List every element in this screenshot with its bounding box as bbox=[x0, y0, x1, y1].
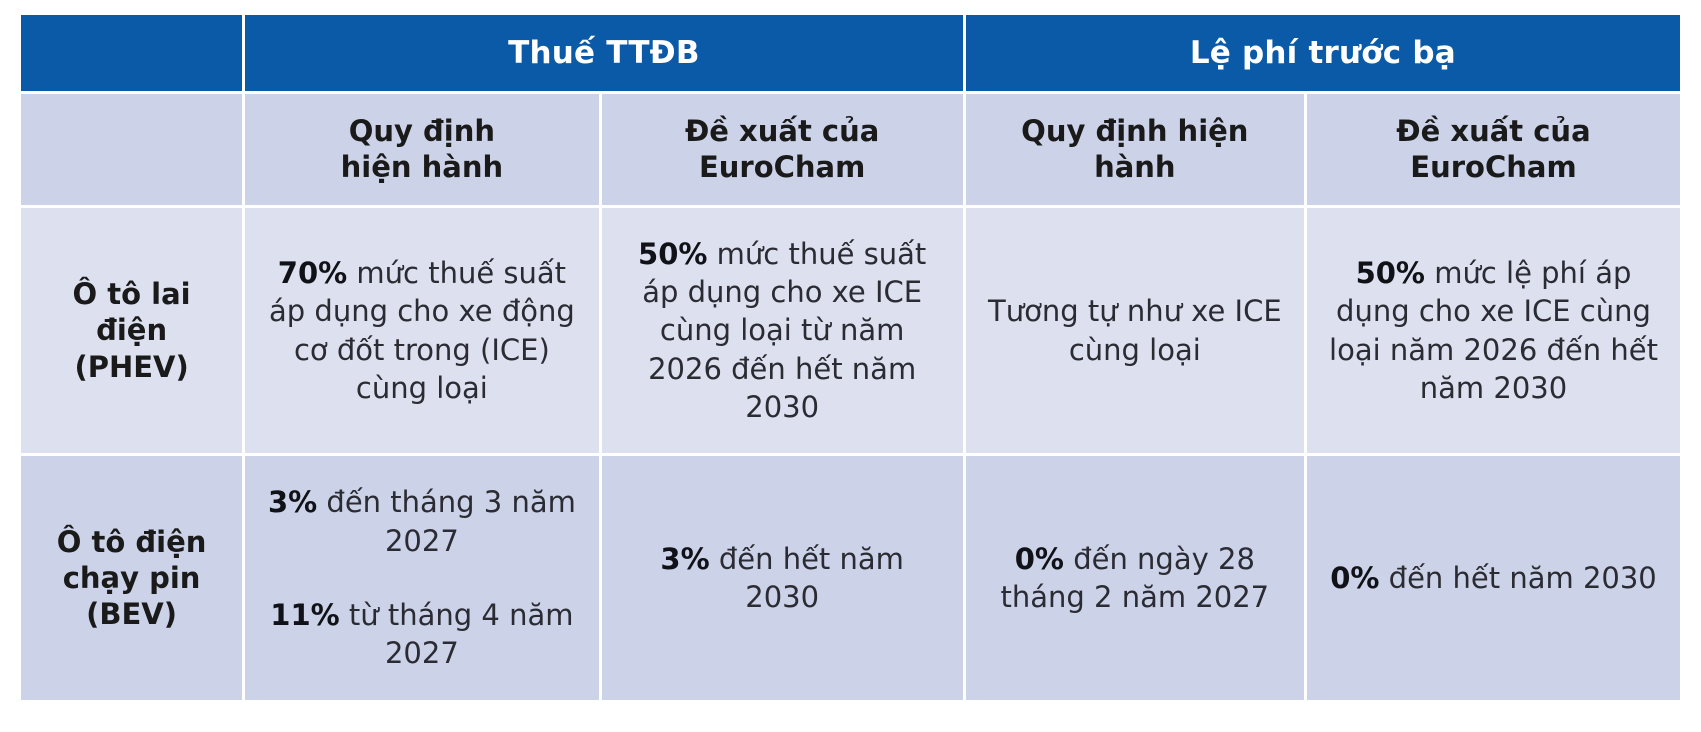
tax-comparison-table-container: Thuế TTĐB Lệ phí trước bạ Quy định hiện … bbox=[18, 12, 1683, 700]
column-header-excise-proposal-line1: Đề xuất của bbox=[685, 114, 879, 148]
column-header-excise-proposal-line2: EuroCham bbox=[699, 150, 865, 184]
cell-phev-regfee-proposal: 50% mức lệ phí áp dụng cho xe ICE cùng l… bbox=[1307, 208, 1680, 453]
tax-comparison-table: Thuế TTĐB Lệ phí trước bạ Quy định hiện … bbox=[18, 12, 1683, 703]
column-header-excise-current-line2: hiện hành bbox=[341, 150, 504, 184]
cell-phev-excise-proposal: 50% mức thuế suất áp dụng cho xe ICE cùn… bbox=[602, 208, 963, 453]
cell-bev-regfee-current: 0% đến ngày 28 tháng 2 năm 2027 bbox=[966, 456, 1304, 700]
row-label-phev: Ô tô lai điện (PHEV) bbox=[21, 208, 242, 453]
cell-bev-excise-current-value2: 11% bbox=[270, 598, 339, 632]
cell-bev-excise-proposal-text: đến hết năm 2030 bbox=[710, 542, 904, 614]
cell-bev-regfee-proposal-value: 0% bbox=[1330, 561, 1379, 595]
row-label-phev-line3: (PHEV) bbox=[74, 350, 188, 384]
column-header-excise-current: Quy định hiện hành bbox=[245, 94, 598, 205]
cell-bev-regfee-current-value: 0% bbox=[1015, 542, 1064, 576]
table-group-header-row: Thuế TTĐB Lệ phí trước bạ bbox=[21, 15, 1680, 91]
cell-bev-excise-current-value1: 3% bbox=[268, 485, 317, 519]
column-header-regfee-current: Quy định hiện hành bbox=[966, 94, 1304, 205]
cell-phev-regfee-current: Tương tự như xe ICE cùng loại bbox=[966, 208, 1304, 453]
cell-phev-excise-current-value: 70% bbox=[278, 256, 347, 290]
row-label-bev: Ô tô điện chạy pin (BEV) bbox=[21, 456, 242, 700]
cell-phev-excise-current: 70% mức thuế suất áp dụng cho xe động cơ… bbox=[245, 208, 598, 453]
table-column-header-row: Quy định hiện hành Đề xuất của EuroCham … bbox=[21, 94, 1680, 205]
table-row-phev: Ô tô lai điện (PHEV) 70% mức thuế suất á… bbox=[21, 208, 1680, 453]
row-label-bev-line3: (BEV) bbox=[86, 597, 177, 631]
cell-bev-excise-proposal-value: 3% bbox=[660, 542, 709, 576]
column-header-regfee-proposal-line2: EuroCham bbox=[1410, 150, 1576, 184]
row-label-bev-line1: Ô tô điện bbox=[57, 525, 207, 559]
column-header-regfee-current-line2: hành bbox=[1094, 150, 1176, 184]
cell-bev-excise-current-text1: đến tháng 3 năm 2027 bbox=[317, 485, 576, 557]
cell-bev-regfee-proposal-text: đến hết năm 2030 bbox=[1379, 561, 1656, 595]
row-label-phev-line1: Ô tô lai bbox=[73, 277, 191, 311]
column-header-excise-current-line1: Quy định bbox=[349, 114, 495, 148]
group-header-excise-tax: Thuế TTĐB bbox=[245, 15, 963, 91]
cell-bev-excise-proposal: 3% đến hết năm 2030 bbox=[602, 456, 963, 700]
row-label-bev-line2: chạy pin bbox=[63, 561, 201, 595]
column-header-excise-proposal: Đề xuất của EuroCham bbox=[602, 94, 963, 205]
cell-bev-excise-current-text2: từ tháng 4 năm 2027 bbox=[340, 598, 574, 670]
cell-phev-regfee-proposal-value: 50% bbox=[1356, 256, 1425, 290]
row-label-phev-line2: điện bbox=[96, 313, 167, 347]
table-row-bev: Ô tô điện chạy pin (BEV) 3% đến tháng 3 … bbox=[21, 456, 1680, 700]
group-header-corner-cell bbox=[21, 15, 242, 91]
group-header-registration-fee: Lệ phí trước bạ bbox=[966, 15, 1680, 91]
column-header-regfee-proposal-line1: Đề xuất của bbox=[1396, 114, 1590, 148]
cell-bev-regfee-proposal: 0% đến hết năm 2030 bbox=[1307, 456, 1680, 700]
cell-phev-excise-proposal-value: 50% bbox=[638, 237, 707, 271]
column-header-regfee-proposal: Đề xuất của EuroCham bbox=[1307, 94, 1680, 205]
cell-bev-excise-current-para1: 3% đến tháng 3 năm 2027 bbox=[263, 483, 580, 560]
cell-phev-regfee-current-text: Tương tự như xe ICE cùng loại bbox=[988, 294, 1282, 366]
cell-bev-excise-current-para2: 11% từ tháng 4 năm 2027 bbox=[263, 596, 580, 673]
column-header-regfee-current-line1: Quy định hiện bbox=[1021, 114, 1248, 148]
column-header-corner-cell bbox=[21, 94, 242, 205]
cell-bev-excise-current: 3% đến tháng 3 năm 2027 11% từ tháng 4 n… bbox=[245, 456, 598, 700]
